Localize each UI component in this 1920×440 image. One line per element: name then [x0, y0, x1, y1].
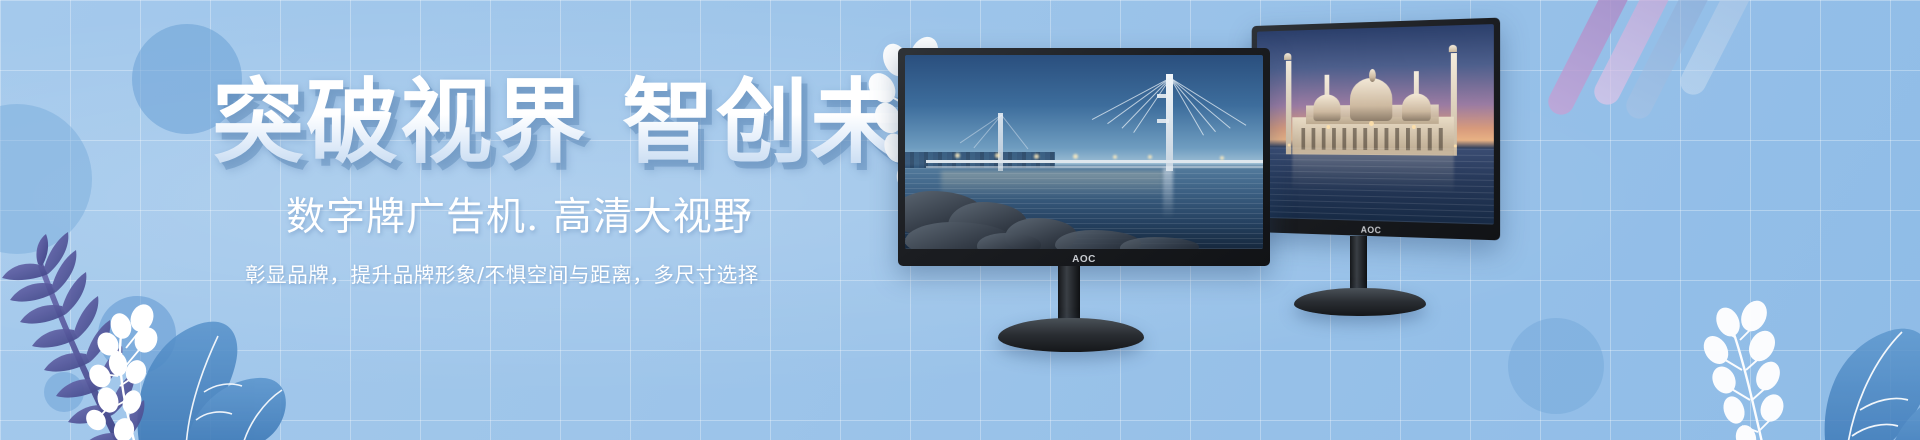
- monitor-stand-base: [998, 318, 1144, 352]
- monitor-screen: [1257, 24, 1494, 225]
- monitor-stand-neck: [1350, 236, 1367, 296]
- copy-block: 突破视界 智创未来 数字牌广告机. 高清大视野 彰显品牌，提升品牌形象/不惧空间…: [0, 0, 900, 440]
- subtitle: 数字牌广告机. 高清大视野: [286, 192, 846, 244]
- monitor-screen: [905, 55, 1263, 249]
- monitor-stand-base: [1294, 288, 1426, 316]
- monitor-logo: AOC: [1072, 254, 1096, 265]
- monitor-logo: AOC: [1361, 225, 1382, 236]
- monitor-front-bridge: AOC: [898, 48, 1270, 266]
- monitor-group: AOC: [880, 0, 1920, 440]
- monitor-back-mosque: AOC: [1252, 18, 1500, 241]
- page-title: 突破视界 智创未来: [212, 68, 912, 178]
- tagline: 彰显品牌，提升品牌形象/不惧空间与距离，多尺寸选择: [245, 258, 885, 292]
- promo-banner: 突破视界 智创未来 数字牌广告机. 高清大视野 彰显品牌，提升品牌形象/不惧空间…: [0, 0, 1920, 440]
